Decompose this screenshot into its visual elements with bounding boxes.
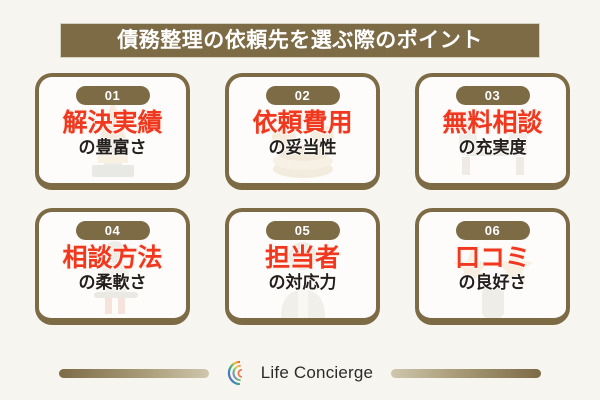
card-sub-label: の妥当性	[269, 139, 337, 158]
page-title: 債務整理の依頼先を選ぶ際のポイント	[117, 30, 483, 51]
point-card[interactable]: 06 口コミ の良好さ	[415, 208, 570, 325]
card-number-badge: 05	[266, 221, 340, 240]
decorative-bar-right	[391, 369, 541, 378]
card-main-label: 無料相談	[442, 110, 542, 137]
card-number-badge: 02	[266, 86, 340, 105]
point-card[interactable]: 03 無料相談 の充実度	[415, 73, 570, 190]
card-number-badge: 03	[456, 86, 530, 105]
card-sub-label: の豊富さ	[79, 139, 147, 158]
card-main-label: 口コミ	[455, 245, 530, 272]
point-card[interactable]: 05 担当者 の対応力	[225, 208, 380, 325]
decorative-bar-left	[59, 369, 209, 378]
card-main-label: 相談方法	[62, 245, 162, 272]
card-number-badge: 01	[76, 86, 150, 105]
card-number-badge: 04	[76, 221, 150, 240]
brand-name: Life Concierge	[261, 363, 373, 383]
rainbow-circle-logo-icon	[227, 360, 253, 386]
point-card[interactable]: 02 依頼費用 の妥当性	[225, 73, 380, 190]
brand-logo[interactable]: Life Concierge	[227, 360, 373, 386]
card-main-label: 解決実績	[62, 110, 162, 137]
point-card[interactable]: 04 相談方法 の柔軟さ	[35, 208, 190, 325]
card-main-label: 依頼費用	[252, 110, 352, 137]
card-sub-label: の柔軟さ	[79, 274, 147, 293]
card-number-badge: 06	[456, 221, 530, 240]
points-card-grid: 01 解決実績 の豊富さ 02 依頼費用 の妥当性 03 無料相談 の充実度	[35, 73, 570, 325]
footer: Life Concierge	[0, 358, 600, 388]
card-main-label: 担当者	[265, 245, 340, 272]
page-title-banner: 債務整理の依頼先を選ぶ際のポイント	[60, 23, 540, 58]
card-sub-label: の充実度	[459, 139, 527, 158]
point-card[interactable]: 01 解決実績 の豊富さ	[35, 73, 190, 190]
card-sub-label: の対応力	[269, 274, 337, 293]
card-sub-label: の良好さ	[459, 274, 527, 293]
